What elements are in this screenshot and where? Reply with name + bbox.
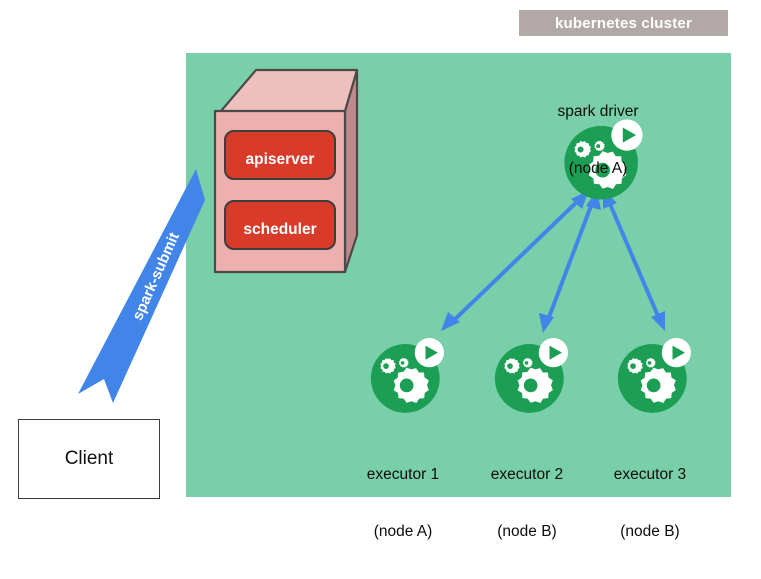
executor-1-node[interactable]	[371, 338, 444, 413]
executor-3-caption-line2: (node B)	[570, 522, 730, 541]
executor-3-caption: executor 3 (node B)	[570, 427, 730, 579]
apiserver-label: apiserver	[225, 151, 335, 169]
diagram-canvas: kubernetes cluster	[0, 0, 761, 516]
client-box[interactable]: Client	[18, 419, 160, 499]
executor-3-node[interactable]	[618, 338, 691, 413]
executor-3-caption-line1: executor 3	[570, 465, 730, 484]
executor-2-node[interactable]	[495, 338, 568, 413]
spark-driver-caption-line1: spark driver	[508, 102, 688, 121]
spark-driver-caption-line2: (node A)	[508, 159, 688, 178]
spark-driver-caption: spark driver (node A)	[508, 64, 688, 216]
client-box-label: Client	[65, 448, 114, 470]
scheduler-label: scheduler	[225, 221, 335, 239]
